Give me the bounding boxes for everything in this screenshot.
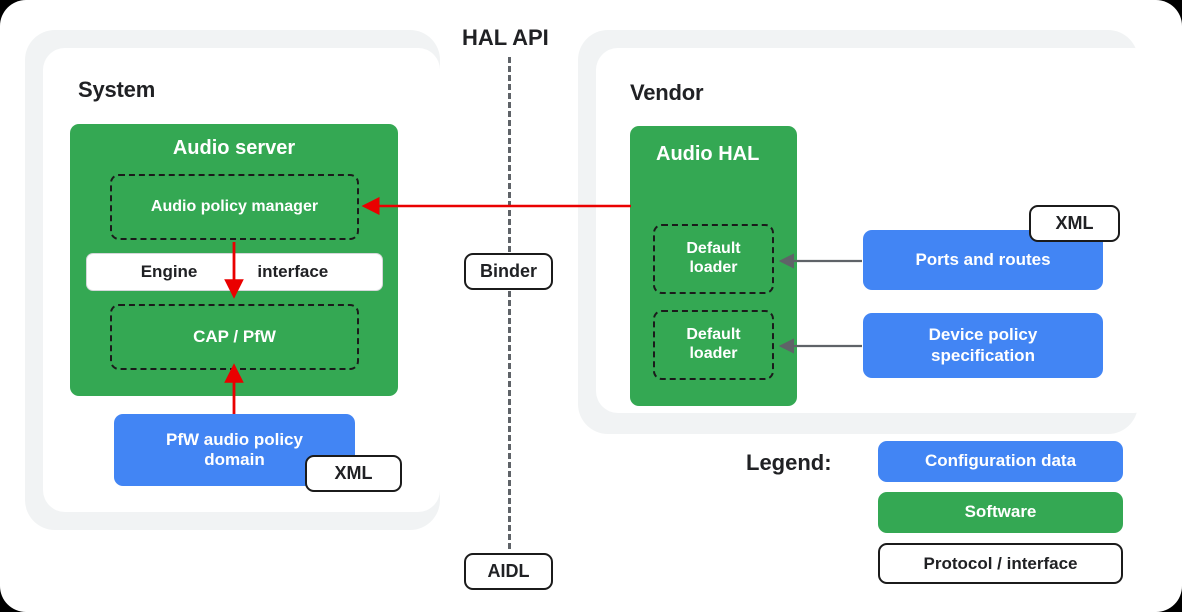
legend-item-protocol-interface: Protocol / interface: [878, 543, 1123, 584]
system-xml-badge: XML: [305, 455, 402, 492]
legend-item-software: Software: [878, 492, 1123, 533]
vendor-panel-title: Vendor: [630, 80, 703, 106]
hal-api-divider-line: [508, 57, 511, 549]
audio-hal-title: Audio HAL: [630, 143, 797, 166]
hal-api-label: HAL API: [462, 25, 549, 51]
audio-server-title: Audio server: [70, 137, 398, 160]
pfw-domain-line2: domain: [204, 450, 264, 470]
legend-item-configuration-data: Configuration data: [878, 441, 1123, 482]
device-policy-specification-block: Device policy specification: [863, 313, 1103, 378]
diagram-canvas: System Audio server Audio policy manager…: [0, 0, 1182, 612]
device-policy-line2: specification: [931, 346, 1035, 366]
default-loader-2-line2: loader: [689, 345, 737, 364]
cap-pfw-block: CAP / PfW: [110, 304, 359, 370]
engine-interface-bar: Engine interface: [86, 253, 383, 291]
pfw-domain-line1: PfW audio policy: [166, 430, 303, 450]
default-loader-block-1: Default loader: [653, 224, 774, 294]
audio-policy-manager-block: Audio policy manager: [110, 174, 359, 240]
default-loader-block-2: Default loader: [653, 310, 774, 380]
binder-badge: Binder: [464, 253, 553, 290]
device-policy-line1: Device policy: [929, 325, 1038, 345]
aidl-badge: AIDL: [464, 553, 553, 590]
vendor-xml-badge: XML: [1029, 205, 1120, 242]
system-panel-title: System: [78, 77, 155, 103]
audio-hal-block: Audio HAL Default loader Default loader: [630, 126, 797, 406]
default-loader-1-line1: Default: [686, 240, 740, 259]
default-loader-2-line1: Default: [686, 326, 740, 345]
engine-interface-label-left: Engine: [141, 262, 228, 282]
audio-server-block: Audio server Audio policy manager Engine…: [70, 124, 398, 396]
engine-interface-label-right: interface: [227, 262, 328, 282]
default-loader-1-line2: loader: [689, 259, 737, 278]
legend-title: Legend:: [746, 450, 832, 476]
